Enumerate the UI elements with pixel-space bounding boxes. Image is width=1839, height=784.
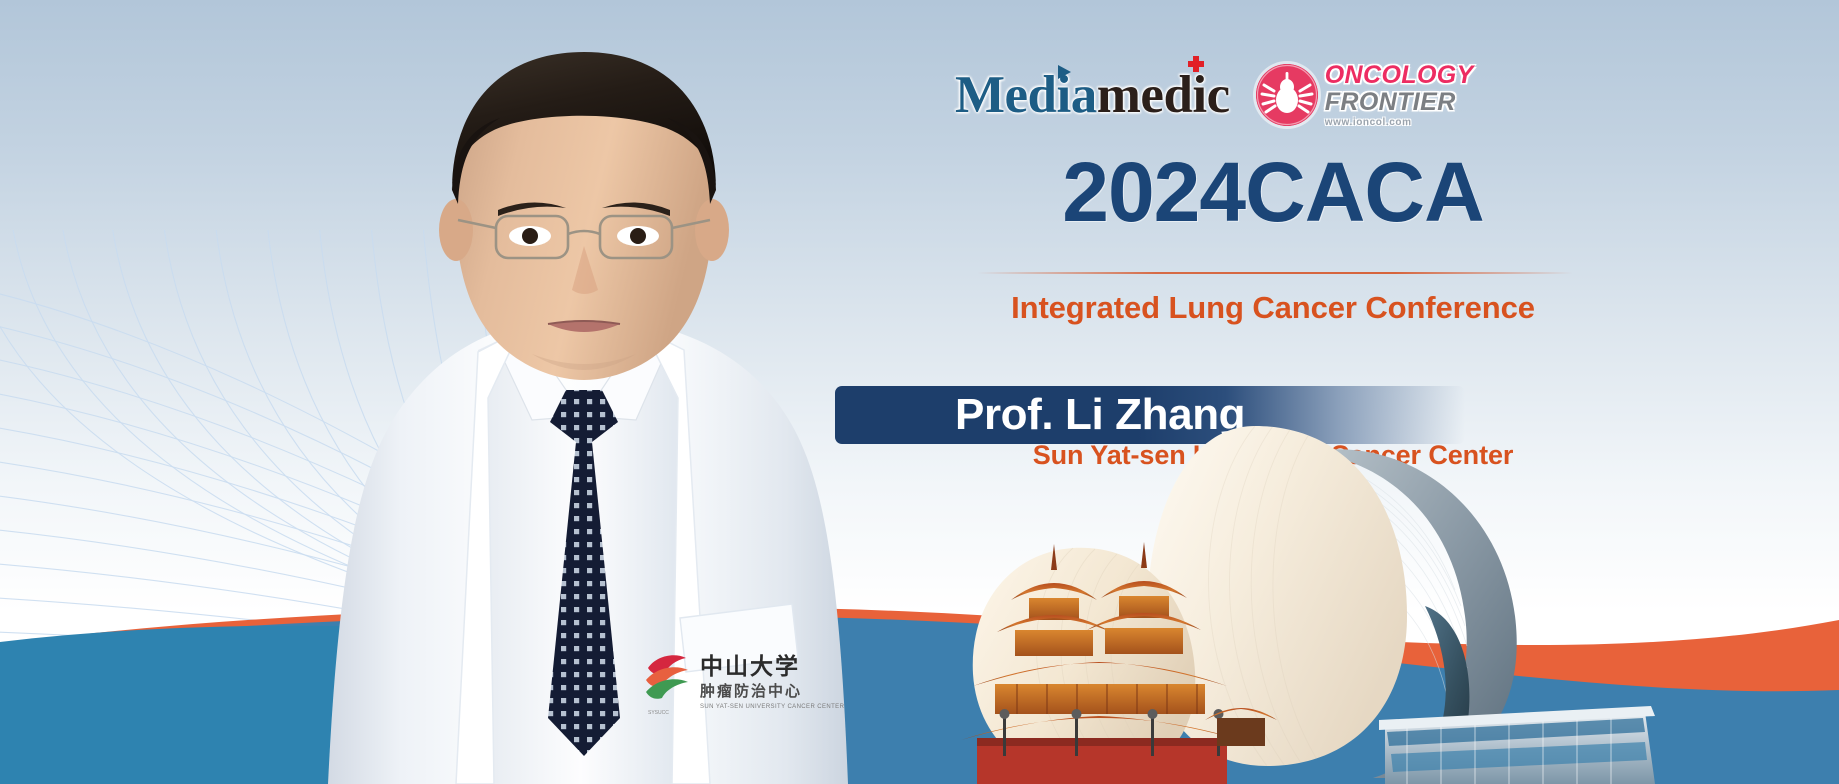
oncology-frontier-wordmark: ONCOLOGY FRONTIER www.ioncol.com <box>1325 63 1474 128</box>
speaker-portrait: 中山大学 肿瘤防治中心 SUN YAT-SEN UNIVERSITY CANCE… <box>232 18 932 784</box>
event-subtitle: Integrated Lung Cancer Conference <box>953 290 1593 326</box>
mediamedic-logo[interactable]: Mediamedic <box>955 69 1230 122</box>
glasses-icon <box>458 216 710 258</box>
coat-institution-badge: 中山大学 肿瘤防治中心 SUN YAT-SEN UNIVERSITY CANCE… <box>646 653 845 716</box>
svg-text:中山大学: 中山大学 <box>700 653 800 680</box>
title-divider <box>977 272 1573 274</box>
pagoda-building <box>961 542 1277 784</box>
crab-emblem-icon <box>1256 64 1318 126</box>
oncology-frontier-url[interactable]: www.ioncol.com <box>1325 118 1474 128</box>
content-column: Mediamedic <box>955 0 1839 784</box>
mediamedic-medic-part: medic <box>1097 66 1230 124</box>
conference-banner: 中山大学 肿瘤防治中心 SUN YAT-SEN UNIVERSITY CANCE… <box>0 0 1839 784</box>
frontier-line: FRONTIER <box>1325 90 1474 115</box>
svg-text:肿瘤防治中心: 肿瘤防治中心 <box>700 682 802 700</box>
speaker-head <box>439 52 729 380</box>
oncology-frontier-logo[interactable]: ONCOLOGY FRONTIER www.ioncol.com <box>1256 63 1474 128</box>
opera-house-shell-small <box>973 548 1196 780</box>
event-title: 2024CACA <box>953 150 1593 234</box>
speaker-affiliation: Sun Yat-sen University Cancer Center <box>953 440 1593 471</box>
podium-building <box>1379 706 1655 784</box>
opera-house-mesh-dome <box>1307 449 1517 778</box>
svg-text:SUN YAT-SEN UNIVERSITY CANCER: SUN YAT-SEN UNIVERSITY CANCER CENTER <box>700 704 845 710</box>
opera-house-shell-large <box>1147 426 1407 766</box>
oncology-line: ONCOLOGY <box>1325 63 1474 88</box>
mediamedic-media-part: Media <box>955 66 1097 124</box>
logos-row: Mediamedic <box>955 56 1595 134</box>
svg-text:SYSUCC: SYSUCC <box>648 710 669 716</box>
architecture-illustration <box>955 420 1655 784</box>
mesh-decoration <box>0 230 700 784</box>
